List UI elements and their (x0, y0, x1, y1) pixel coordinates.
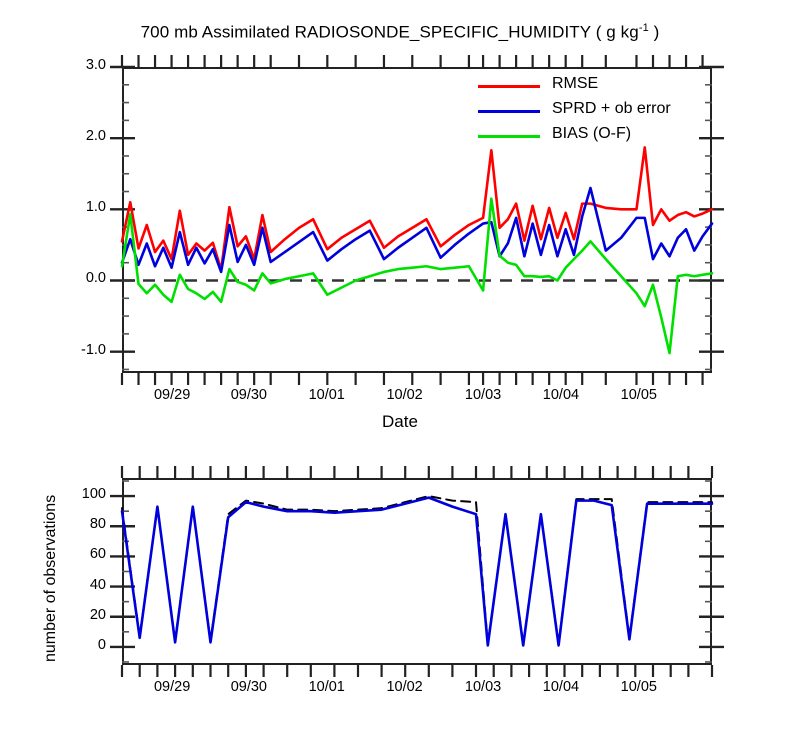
legend-swatch (478, 85, 540, 88)
x-tick-label: 10/05 (599, 387, 679, 403)
legend-swatch (478, 110, 540, 113)
x-tick-label: 10/04 (521, 679, 601, 695)
x-tick-label: 10/01 (287, 387, 367, 403)
y-tick-label: 3.0 (42, 57, 106, 73)
legend-swatch (478, 135, 540, 138)
statistics-panel: 3.02.01.00.0-1.0 09/2909/3010/0110/0210/… (0, 0, 800, 450)
observation-count-panel: 020406080100 09/2909/3010/0110/0210/0310… (0, 450, 800, 750)
y-tick-label: 2.0 (42, 128, 106, 144)
x-tick-label: 09/30 (209, 679, 289, 695)
x-tick-label: 10/05 (599, 679, 679, 695)
legend-label: RMSE (552, 75, 598, 93)
x-tick-label: 10/02 (365, 387, 445, 403)
x-tick-label: 10/03 (443, 679, 523, 695)
legend-item: RMSE (478, 74, 708, 99)
x-tick-label: 09/29 (132, 679, 212, 695)
legend-item: BIAS (O-F) (478, 124, 708, 149)
statistics-plot-canvas (0, 0, 800, 450)
x-tick-label: 10/04 (521, 387, 601, 403)
legend-label: BIAS (O-F) (552, 125, 631, 143)
y-tick-label: 0.0 (42, 270, 106, 286)
x-tick-label: 10/01 (287, 679, 367, 695)
x-tick-label: 09/29 (132, 387, 212, 403)
y-tick-label: -1.0 (42, 342, 106, 358)
observation-plot-canvas (0, 450, 800, 750)
x-axis-title: Date (0, 412, 800, 432)
legend-label: SPRD + ob error (552, 100, 671, 118)
legend-item: SPRD + ob error (478, 99, 708, 124)
y-tick-label: 1.0 (42, 199, 106, 215)
chart-page: 700 mb Assimilated RADIOSONDE_SPECIFIC_H… (0, 0, 800, 750)
x-tick-label: 09/30 (209, 387, 289, 403)
legend: RMSESPRD + ob errorBIAS (O-F) (478, 74, 708, 149)
x-tick-label: 10/03 (443, 387, 523, 403)
y-axis-title: number of observations (42, 495, 60, 662)
x-tick-label: 10/02 (365, 679, 445, 695)
